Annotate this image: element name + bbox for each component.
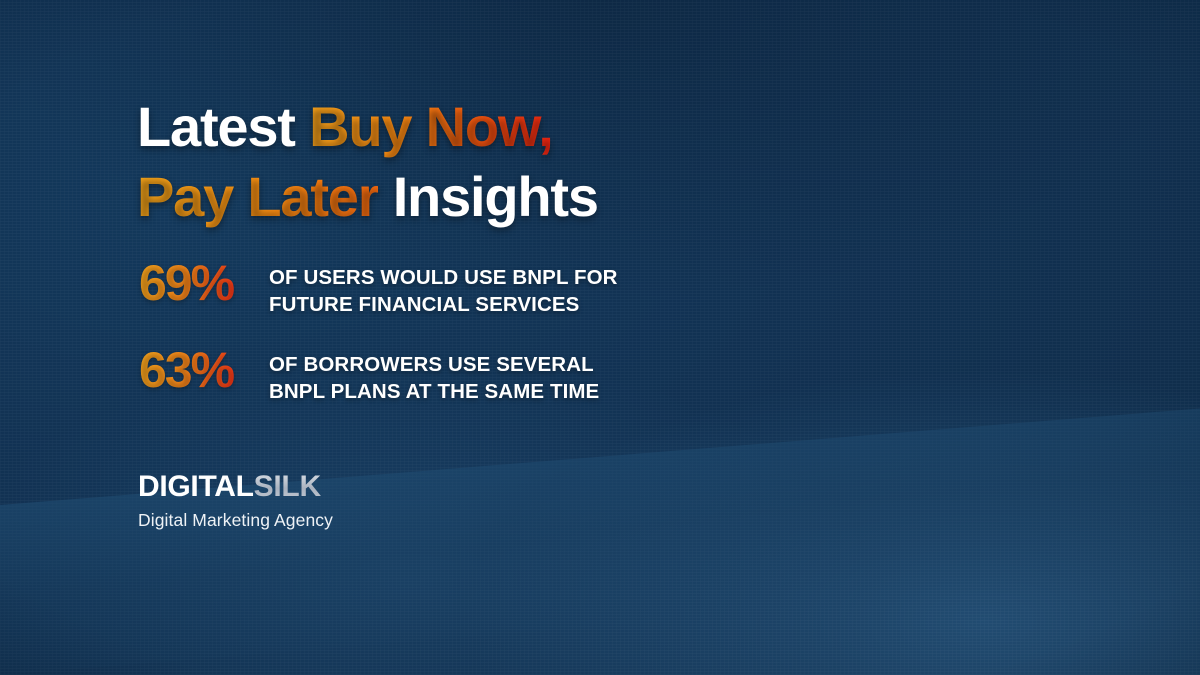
headline-pay-later-text: Pay Later <box>137 165 378 228</box>
infographic-canvas: Latest Buy Now, Pay Later Insights 69% O… <box>0 0 1200 675</box>
stat-description-1: OF USERS WOULD USE BNPL FOR FUTURE FINAN… <box>269 258 618 318</box>
headline-line-1: Latest Buy Now, <box>137 99 553 155</box>
logo-silk-text: SILK <box>254 470 321 503</box>
stat-description-2: OF BORROWERS USE SEVERAL BNPL PLANS AT T… <box>269 345 599 405</box>
headline-line-2: Pay Later Insights <box>137 169 598 225</box>
left-content-panel: Latest Buy Now, Pay Later Insights 69% O… <box>0 0 660 675</box>
headline-insights-text: Insights <box>378 165 597 228</box>
stat-block-2: 63% OF BORROWERS USE SEVERAL BNPL PLANS … <box>139 345 599 405</box>
brand-logo[interactable]: DIGITALSILK Digital Marketing Agency <box>138 470 333 531</box>
stat-percent-2: 63% <box>139 345 253 395</box>
headline-buy-now-text: Buy Now, <box>309 95 552 158</box>
logo-wordmark: DIGITALSILK <box>138 470 333 504</box>
logo-digital-text: DIGITAL <box>138 470 254 503</box>
logo-tagline: Digital Marketing Agency <box>138 509 333 531</box>
headline-latest-text: Latest <box>137 95 309 158</box>
stat-percent-1: 69% <box>139 258 253 308</box>
bnpl-users-bar-chart: NUMBER OF BNPL USERS IN THE U.S. (IN MIL… <box>620 0 1200 675</box>
stat-block-1: 69% OF USERS WOULD USE BNPL FOR FUTURE F… <box>139 258 618 318</box>
